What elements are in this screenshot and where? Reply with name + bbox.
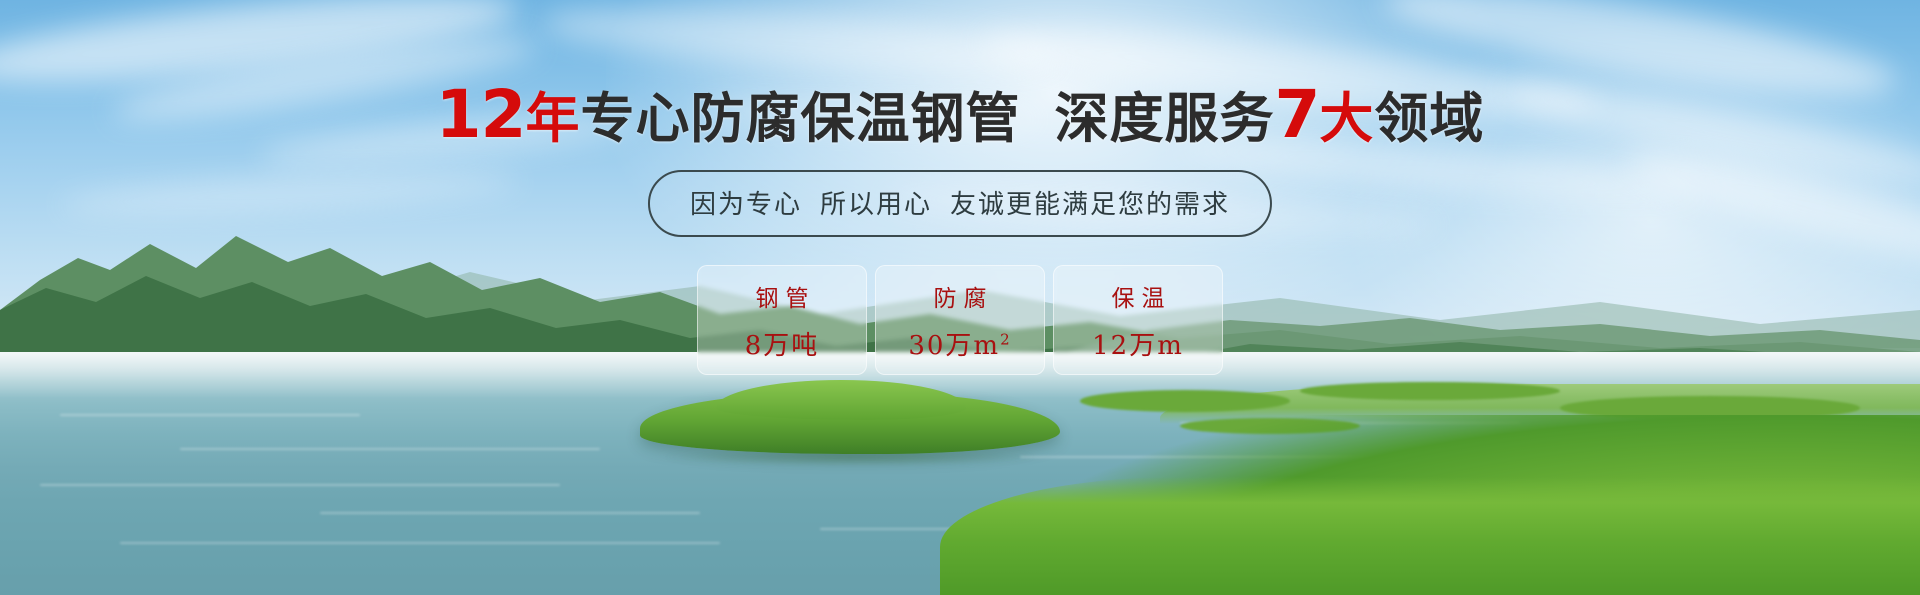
headline-fields-number: 7 — [1274, 76, 1319, 153]
stat-card-steel-pipe: 钢管 8万吨 — [697, 265, 867, 375]
stat-card-value-text: 30万m — [908, 331, 1000, 361]
page-title: 12年专心防腐保温钢管深度服务7大领域 — [0, 82, 1920, 148]
subtitle-segment-1: 因为专心 — [690, 189, 802, 219]
headline-part-two: 深度服务 — [1054, 87, 1274, 150]
stat-card-label: 防腐 — [927, 279, 994, 313]
stat-card-label: 钢管 — [749, 279, 816, 313]
subtitle-segment-3: 友诚更能满足您的需求 — [950, 189, 1230, 219]
headline-part-three: 领域 — [1374, 87, 1484, 150]
stat-card-value-superscript: 2 — [1000, 330, 1012, 348]
subtitle-pill: 因为专心所以用心友诚更能满足您的需求 — [648, 170, 1272, 237]
hero-banner: 12年专心防腐保温钢管深度服务7大领域 因为专心所以用心友诚更能满足您的需求 钢… — [0, 0, 1920, 595]
stat-card-anticorrosion: 防腐 30万m2 — [875, 265, 1045, 375]
stat-card-value-text: 12万m — [1092, 331, 1184, 361]
subtitle-segment-2: 所以用心 — [820, 189, 932, 219]
stat-card-insulation: 保温 12万m — [1053, 265, 1223, 375]
foreground-grass-strip — [940, 477, 1920, 595]
marsh-patch — [1080, 390, 1290, 412]
headline-fields-unit: 大 — [1319, 87, 1374, 150]
stat-card-value: 12万m — [1092, 325, 1184, 362]
stat-card-label: 保温 — [1105, 279, 1172, 313]
stat-card-value-text: 8万吨 — [745, 331, 820, 361]
stat-card-value: 8万吨 — [745, 325, 820, 362]
headline-years-number: 12 — [436, 76, 526, 153]
stat-card-group: 钢管 8万吨 防腐 30万m2 保温 12万m — [697, 265, 1223, 375]
headline-part-one: 专心防腐保温钢管 — [580, 87, 1020, 150]
stat-card-value: 30万m2 — [908, 325, 1011, 362]
headline-years-unit: 年 — [525, 87, 580, 150]
marsh-patch — [1300, 382, 1560, 400]
